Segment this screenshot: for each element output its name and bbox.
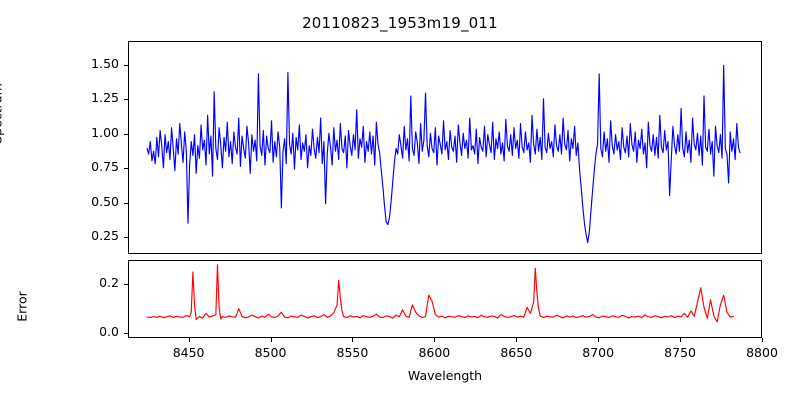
spectrum-y-axis-label: Spectrum [0,34,5,194]
x-tick-label: 8450 [149,345,229,360]
spectrum-plot-area [128,41,762,254]
spectrum-line-svg [129,42,762,254]
error-line-svg [129,261,762,338]
x-tick-label: 8550 [312,345,392,360]
x-tick-label: 8650 [476,345,556,360]
x-tickmark [598,338,599,342]
x-tick-label: 8750 [640,345,720,360]
x-tick-label: 8800 [722,345,800,360]
spectrum-y-tick-label: 1.00 [0,125,119,140]
error-plot-area [128,260,762,338]
x-tickmark [189,338,190,342]
x-tickmark [352,338,353,342]
x-tickmark [271,338,272,342]
spectrum-y-tick-label: 1.50 [0,56,119,71]
x-tickmark [516,338,517,342]
x-tickmark [434,338,435,342]
chart-title: 20110823_1953m19_011 [0,14,800,32]
spectrum-y-tick-label: 0.75 [0,159,119,174]
x-tickmark [762,338,763,342]
x-axis-label: Wavelength [128,368,762,383]
spectrum-y-tick-label: 1.25 [0,90,119,105]
spectrum-y-tick-label: 0.25 [0,228,119,243]
x-tick-label: 8700 [558,345,638,360]
x-tick-label: 8500 [231,345,311,360]
figure: 20110823_1953m19_011 0.250.500.751.001.2… [0,0,800,400]
spectrum-y-tick-label: 0.50 [0,194,119,209]
x-tick-label: 8600 [394,345,474,360]
error-y-axis-label: Error [15,247,30,367]
x-tickmark [680,338,681,342]
